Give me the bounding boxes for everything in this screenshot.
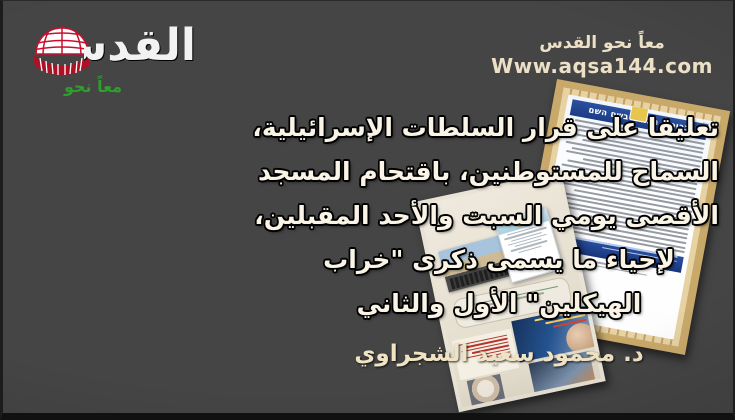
headline-line-1: تعليقا على قرار السلطات الإسرائيلية،	[279, 106, 719, 150]
headline-line-3: الأقصى يومي السبت والأحد المقبلين،	[279, 194, 719, 238]
headline-line-2: السماح للمستوطنين، باقتحام المسجد	[279, 150, 719, 194]
headline-line-4: لإحياء ما يسمى ذكرى "خراب	[279, 238, 719, 282]
headline-line-5: الهيكلين" الأول والثاني	[279, 282, 719, 326]
arabic-page-portrait-photo	[467, 374, 506, 408]
author-byline: د. محمود سعيد الشجراوي	[279, 341, 719, 367]
headline-block: تعليقا على قرار السلطات الإسرائيلية، الس…	[279, 106, 719, 326]
poster-canvas: القدس معاً نحو معاً نحو القدس Www.aqsa14…	[0, 0, 735, 420]
